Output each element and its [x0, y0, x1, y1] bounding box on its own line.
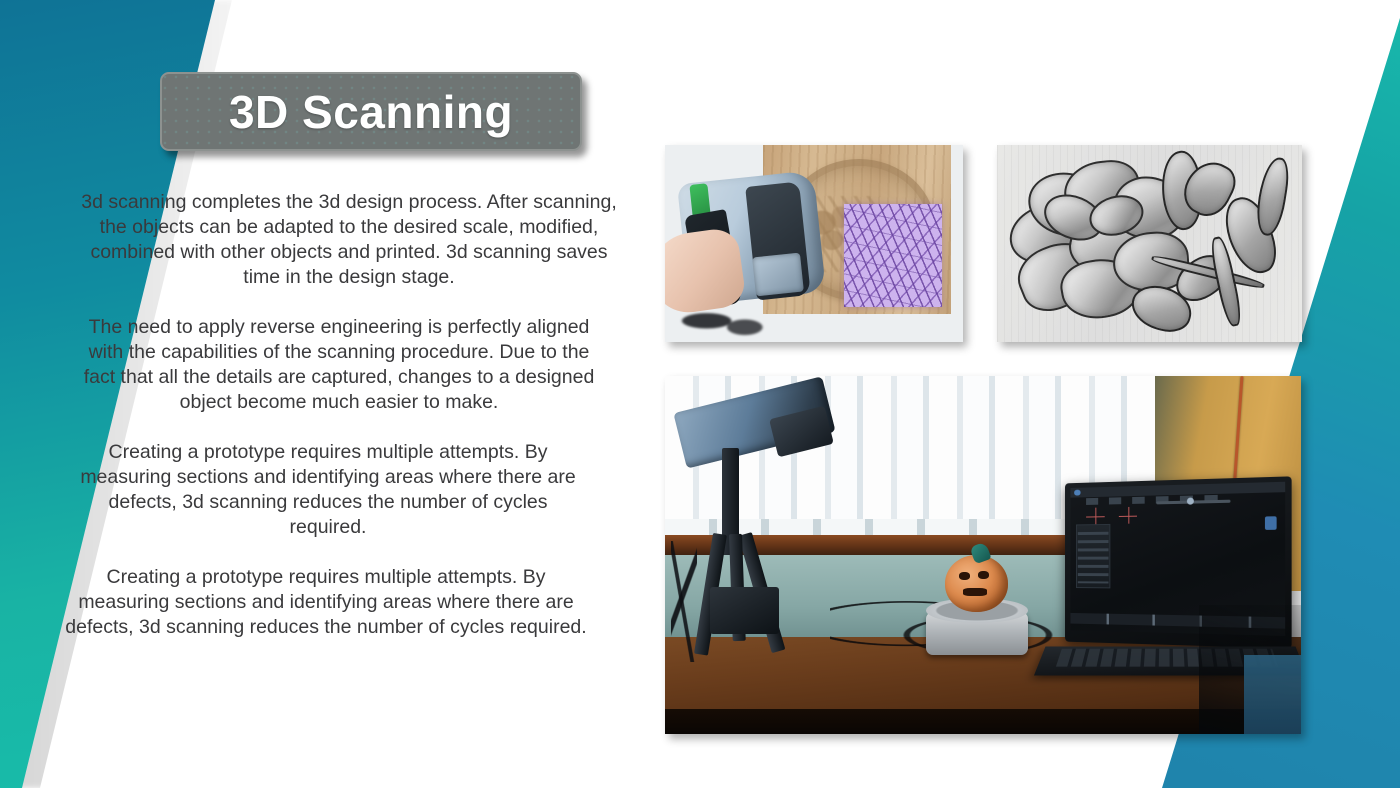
image-desk-scanner-setup [665, 376, 1301, 734]
software-logo-icon [1075, 490, 1081, 495]
software-panel-rows [1079, 531, 1109, 583]
paragraph-4: Creating a prototype requires multiple a… [62, 565, 590, 640]
software-corner-badge [1265, 516, 1277, 530]
pumpkin-eye [978, 571, 989, 579]
foreground-blue-object [1244, 655, 1301, 734]
slide-canvas: 3D Scanning 3d scanning completes the 3d… [0, 0, 1400, 788]
scan-crosshair-icon [1087, 507, 1105, 525]
scanner-cable [671, 295, 790, 338]
scan-crosshair-icon [1119, 506, 1138, 524]
paragraph-3: Creating a prototype requires multiple a… [68, 440, 588, 540]
carved-pumpkin [945, 555, 1009, 612]
pumpkin-eye [959, 572, 970, 580]
left-hanging-cables [671, 541, 696, 663]
pumpkin-mouth [963, 588, 987, 595]
purple-scan-mesh-overlay [844, 204, 942, 306]
body-copy: 3d scanning completes the 3d design proc… [74, 190, 619, 640]
page-title: 3D Scanning [229, 89, 513, 135]
scanner-base-unit [710, 587, 780, 634]
slide-title-plaque: 3D Scanning [160, 72, 582, 151]
image-handheld-scanner [665, 145, 963, 342]
handheld-scanner-lens [752, 253, 804, 297]
paragraph-1: 3d scanning completes the 3d design proc… [79, 190, 619, 290]
software-slider-knob [1187, 497, 1194, 505]
image-peony-relief-scan [997, 145, 1302, 342]
paragraph-2: The need to apply reverse engineering is… [74, 315, 604, 415]
